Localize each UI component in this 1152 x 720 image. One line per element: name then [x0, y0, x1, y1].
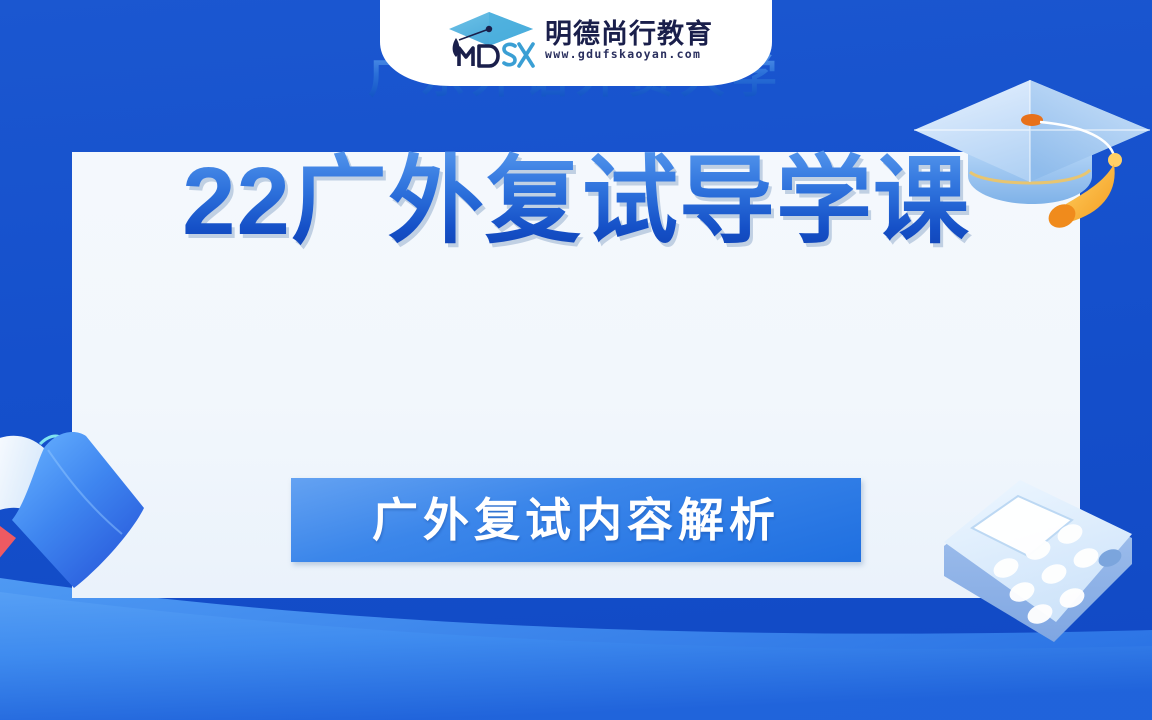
brand-logo-text: 明德尚行教育 www.gdufskaoyan.com	[545, 21, 713, 61]
graduation-cap-logo-icon	[439, 10, 535, 72]
subtitle-text: 广外复试内容解析	[372, 497, 780, 543]
brand-logo[interactable]: 明德尚行教育 www.gdufskaoyan.com	[380, 0, 772, 86]
brand-name: 明德尚行教育	[545, 21, 713, 48]
page-title-text: 22广外复试导学课	[182, 148, 970, 255]
brand-website: www.gdufskaoyan.com	[545, 49, 713, 61]
poster-canvas: 广东外语外贸大学 22广外复试导学课 广外复试内容解析	[0, 0, 1152, 720]
subtitle-banner: 广外复试内容解析	[291, 478, 861, 562]
page-title: 22广外复试导学课	[0, 148, 1152, 256]
brand-header-tab: 明德尚行教育 www.gdufskaoyan.com	[380, 0, 772, 86]
